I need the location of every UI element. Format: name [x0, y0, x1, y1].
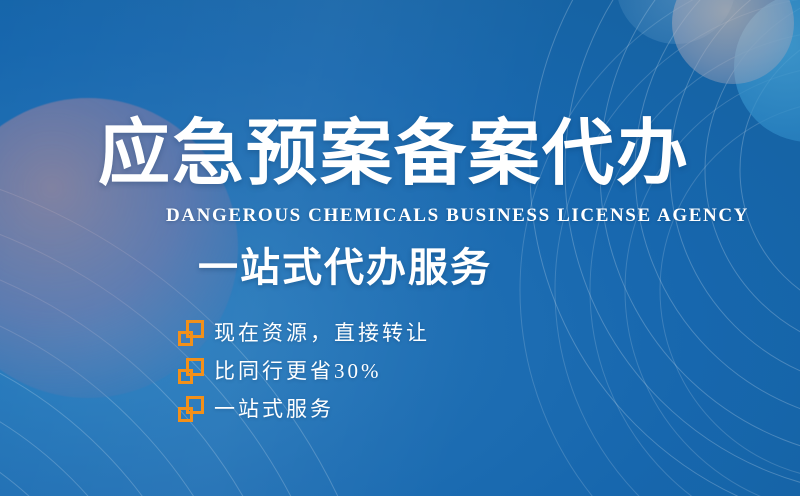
list-item: 现在资源，直接转让: [178, 314, 430, 352]
feature-list: 现在资源，直接转让 比同行更省30% 一站式服务: [178, 314, 430, 428]
banner-content: 应急预案备案代办 DANGEROUS CHEMICALS BUSINESS LI…: [0, 0, 800, 496]
list-item-label: 现在资源，直接转让: [214, 320, 430, 346]
banner-english-subtitle: DANGEROUS CHEMICALS BUSINESS LICENSE AGE…: [166, 204, 749, 228]
double-square-icon: [178, 358, 204, 384]
list-item-label: 比同行更省30%: [214, 358, 382, 384]
list-item-label: 一站式服务: [214, 396, 334, 422]
list-item: 比同行更省30%: [178, 352, 430, 390]
double-square-icon: [178, 320, 204, 346]
promo-banner: 应急预案备案代办 DANGEROUS CHEMICALS BUSINESS LI…: [0, 0, 800, 496]
double-square-icon: [178, 396, 204, 422]
banner-title: 应急预案备案代办: [98, 112, 690, 196]
list-item: 一站式服务: [178, 390, 430, 428]
banner-subtitle: 一站式代办服务: [198, 244, 492, 292]
